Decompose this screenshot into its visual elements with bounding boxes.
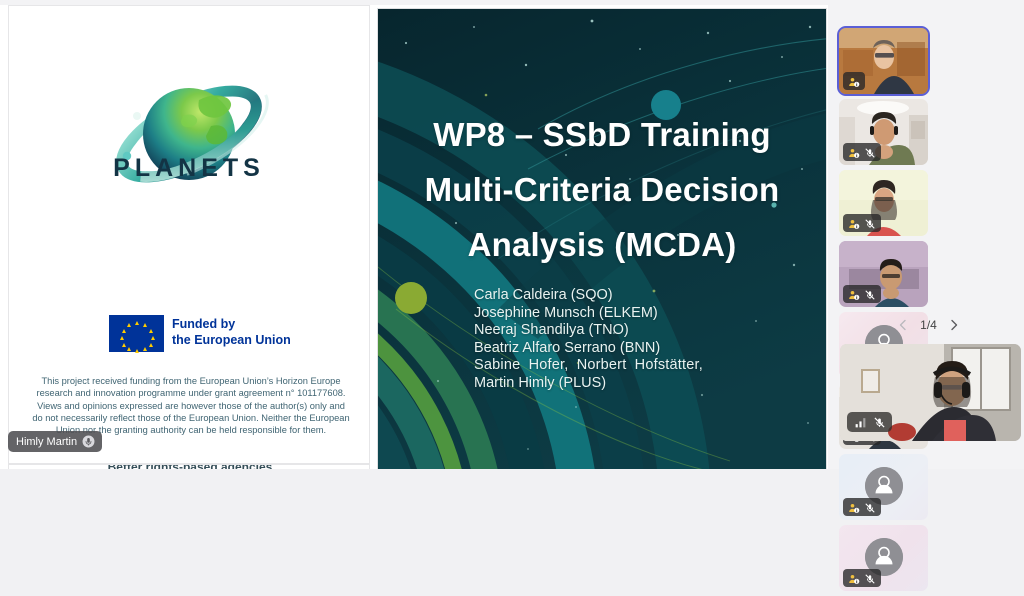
mic-muted-icon — [864, 217, 876, 229]
self-view-badges — [847, 412, 892, 432]
mic-muted-icon — [864, 146, 876, 158]
mic-muted-icon — [864, 501, 876, 513]
author-line: Martin Himly (PLUS) — [474, 375, 774, 393]
tile-badges — [843, 72, 865, 90]
author-line: Carla Caldeira (SQO) — [474, 287, 774, 305]
mic-muted-icon — [864, 288, 876, 300]
chevron-right-icon[interactable] — [948, 319, 960, 331]
slide-author-list: Carla Caldeira (SQO) Josephine Munsch (E… — [474, 287, 774, 393]
participant-page-label: 1/4 — [920, 318, 937, 332]
slide-next-peek[interactable]: Better rights-based agencies — [8, 464, 370, 469]
meeting-screen-share-view: PLANETS — [0, 0, 1024, 469]
presenter-icon — [848, 217, 860, 229]
participant-tile[interactable] — [839, 99, 928, 165]
author-line: Neeraj Shandilya (TNO) — [474, 322, 774, 340]
title-line-3: Analysis (MCDA) — [390, 217, 814, 272]
tile-badges — [843, 214, 881, 232]
author-line: Josephine Munsch (ELKEM) — [474, 305, 774, 323]
slide-title-text: WP8 – SSbD Training Multi-Criteria Decis… — [390, 107, 814, 272]
participant-tile[interactable] — [839, 241, 928, 307]
tile-badges — [843, 143, 881, 161]
eu-funding-logo: Funded by the European Union — [109, 314, 324, 356]
active-speaker-chip: Himly Martin — [8, 431, 102, 452]
presenter-icon — [848, 501, 860, 513]
participant-tile[interactable] — [839, 525, 928, 591]
title-line-1: WP8 – SSbD Training — [390, 107, 814, 162]
chevron-left-icon[interactable] — [897, 319, 909, 331]
title-line-2: Multi-Criteria Decision — [390, 162, 814, 217]
participant-grid — [836, 28, 1024, 596]
funding-disclaimer: This project received funding from the E… — [31, 375, 351, 436]
participant-tile[interactable] — [839, 170, 928, 236]
participant-tile[interactable] — [839, 454, 928, 520]
author-line: Sabine Hofer, Norbert Hofstätter, — [474, 357, 774, 375]
slide-scroll-area[interactable]: PLANETS — [0, 5, 828, 469]
tile-badges — [843, 498, 881, 516]
planets-wordmark: PLANETS — [9, 154, 369, 183]
slide-title[interactable]: WP8 – SSbD Training Multi-Criteria Decis… — [377, 8, 827, 469]
planets-logo-icon — [89, 64, 289, 214]
eu-funding-line-2: the European Union — [172, 332, 291, 348]
mic-muted-icon — [873, 416, 885, 428]
mic-muted-icon — [82, 435, 95, 448]
participant-pager: 1/4 — [833, 314, 1024, 336]
eu-funding-line-1: Funded by — [172, 316, 291, 332]
author-line: Beatriz Alfaro Serrano (BNN) — [474, 340, 774, 358]
presenter-icon — [848, 146, 860, 158]
mic-muted-icon — [864, 572, 876, 584]
shared-content-pane[interactable]: PLANETS — [0, 5, 828, 469]
tile-badges — [843, 285, 881, 303]
signal-strength-icon — [854, 416, 866, 428]
self-view-tile[interactable] — [840, 344, 1021, 441]
participants-pane[interactable]: 1/4 — [833, 5, 1024, 469]
tile-badges — [843, 569, 881, 587]
participant-tile[interactable] — [839, 28, 928, 94]
presenter-icon — [848, 288, 860, 300]
eu-flag-icon — [109, 315, 164, 352]
slide-cover[interactable]: PLANETS — [8, 5, 370, 464]
active-speaker-name: Himly Martin — [16, 436, 77, 448]
presenter-icon — [848, 75, 860, 87]
presenter-icon — [848, 572, 860, 584]
slide-next-peek-text: Better rights-based agencies — [9, 464, 370, 469]
